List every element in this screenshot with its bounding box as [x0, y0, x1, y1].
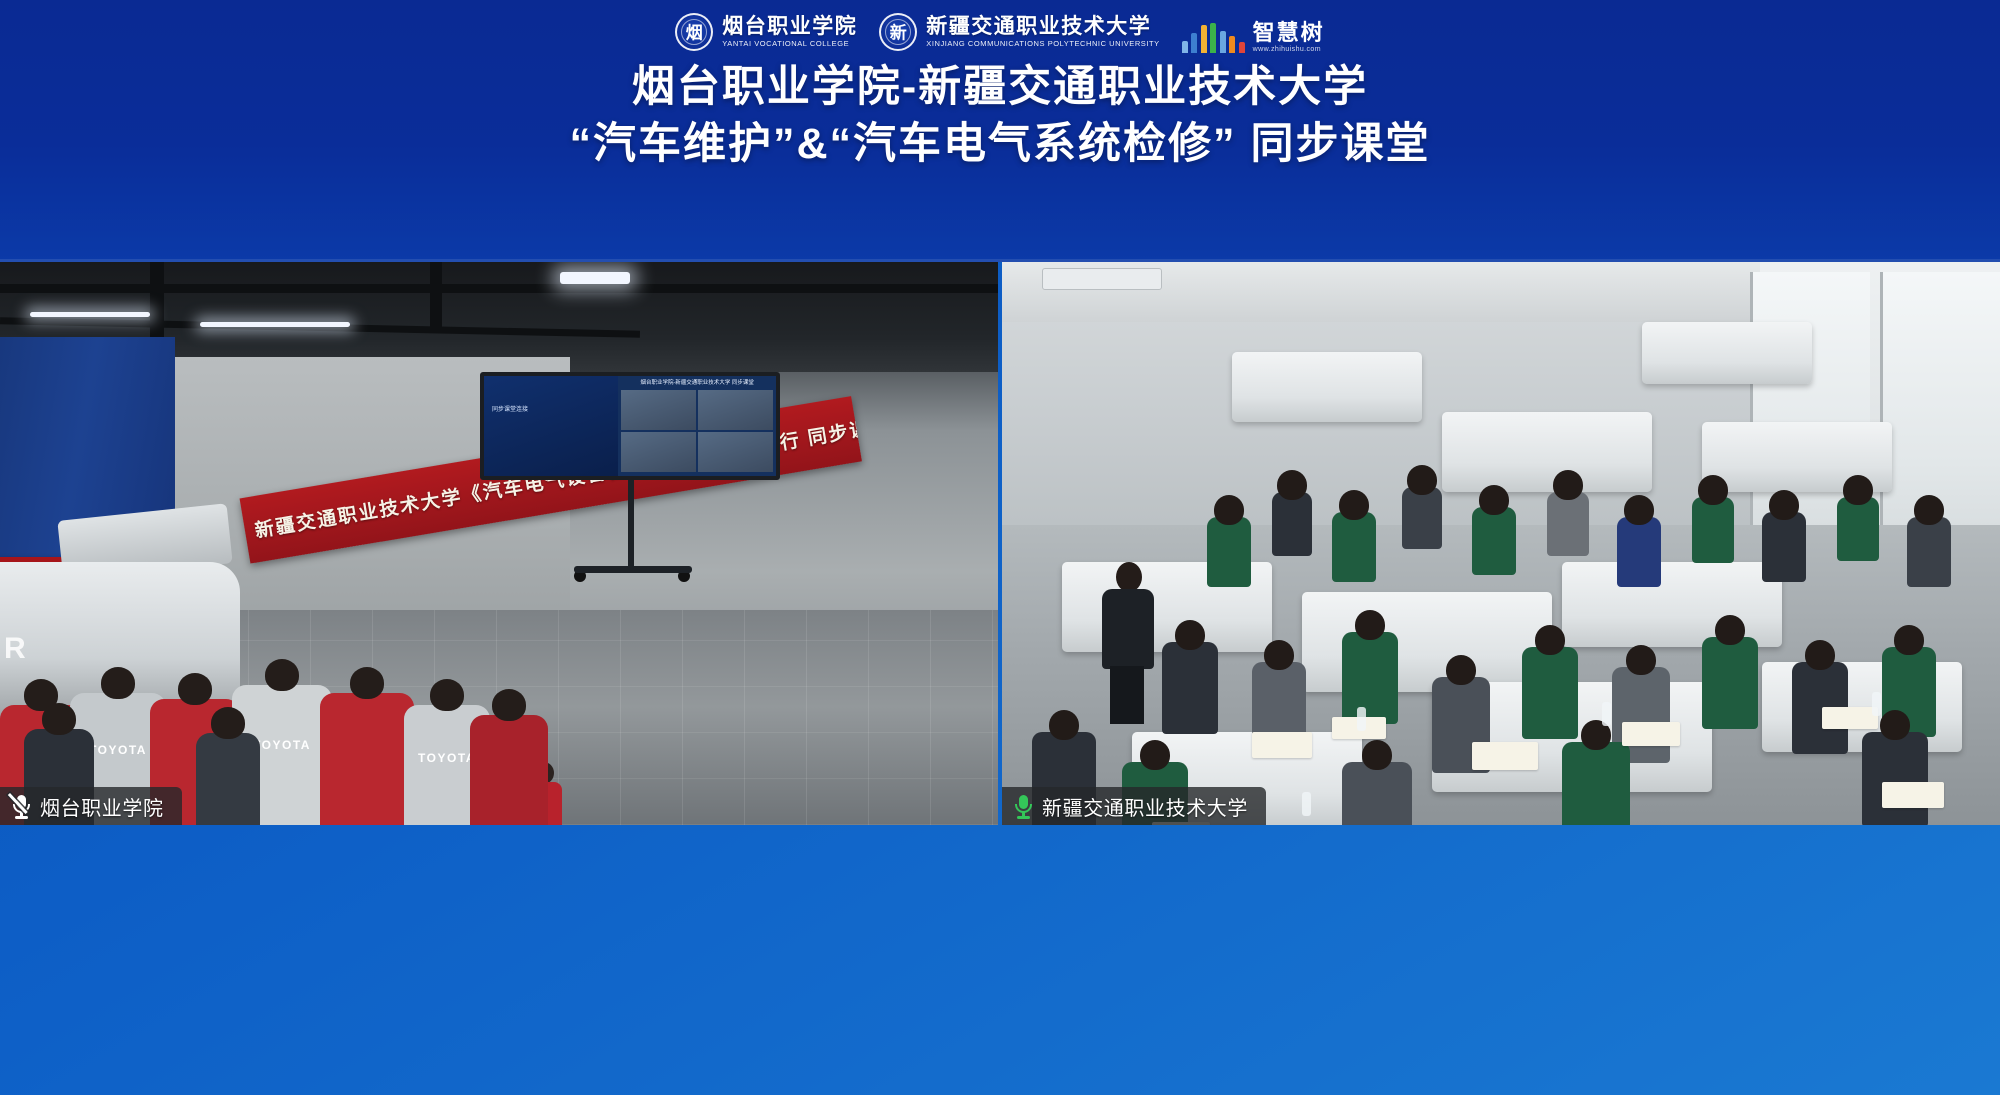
footer-background [0, 825, 2000, 1095]
logo-xinjiang-communications-polytechnic-university: 新 新疆交通职业技术大学 XINJIANG COMMUNICATIONS POL… [879, 8, 1159, 56]
microphone-muted-icon [12, 794, 31, 818]
seated-student [1617, 517, 1661, 587]
zhihuishu-logo-url: www.zhihuishu.com [1253, 46, 1325, 53]
student-head [430, 679, 464, 711]
broadcast-stage: 烟 烟台职业学院 YANTAI VOCATIONAL COLLEGE 新 新疆交… [0, 0, 2000, 1095]
title-line-2: “汽车维护”&“汽车电气系统检修” 同步课堂 [0, 119, 2000, 171]
screen-thumb [698, 390, 773, 430]
student-head [1407, 465, 1437, 495]
student-head [1553, 470, 1583, 500]
seated-student [1472, 507, 1516, 575]
ceiling-light [200, 322, 350, 327]
student-head [1214, 495, 1244, 525]
classroom-desk [1642, 322, 1812, 384]
student-head [1626, 645, 1656, 675]
ceiling-post [430, 262, 442, 332]
seated-student [1402, 487, 1442, 549]
participant-name-left: 烟台职业学院 [40, 792, 164, 821]
logo-zhihuishu: 智慧树 www.zhihuishu.com [1182, 11, 1325, 53]
water-bottle [1302, 792, 1311, 816]
seated-student [1522, 647, 1578, 739]
student-head [265, 659, 299, 691]
header-banner: 烟 烟台职业学院 YANTAI VOCATIONAL COLLEGE 新 新疆交… [0, 0, 2000, 262]
student-figure [470, 715, 548, 825]
student-head [1140, 740, 1170, 770]
presenter-body [1102, 589, 1154, 669]
zhihuishu-bar [1182, 41, 1188, 53]
student-head [350, 667, 384, 699]
student-head [42, 703, 76, 735]
participant-label-left: 烟台职业学院 [0, 787, 182, 825]
zhihuishu-bar [1220, 31, 1226, 53]
seated-student [1207, 517, 1251, 587]
paper-sheet [1882, 782, 1944, 808]
water-bottle [1602, 702, 1611, 726]
paper-sheet [1822, 707, 1878, 729]
yantai-seal-icon: 烟 [675, 13, 713, 51]
student-head [1769, 490, 1799, 520]
xinjiang-seal-icon: 新 [879, 13, 917, 51]
seated-student [1702, 637, 1758, 729]
screen-thumb [698, 432, 773, 472]
presenter-head [1116, 562, 1142, 592]
seated-student [1332, 512, 1376, 582]
ceiling-light [560, 272, 630, 284]
zhihuishu-bar [1201, 25, 1207, 53]
seated-student [1272, 492, 1312, 556]
zhihuishu-logo-text: 智慧树 www.zhihuishu.com [1253, 22, 1325, 53]
uniform-text: TOYOTA [253, 738, 311, 752]
water-bottle [1872, 692, 1881, 716]
water-bottle [1357, 707, 1366, 731]
screen-thumb [621, 390, 696, 430]
uniform-text: TOYOTA [89, 743, 147, 757]
screen-left-half: 同步课堂连接 [484, 376, 618, 476]
seated-student [1837, 497, 1879, 561]
student-head [1277, 470, 1307, 500]
left-scene-workshop: 业 学 院 《汽车维护-油电双轨 职业技术大学 《汽车电气设备检修》 新疆交通职… [0, 262, 998, 825]
classroom-desk [1302, 592, 1552, 692]
air-conditioner [1042, 268, 1162, 290]
seated-student [1342, 762, 1412, 825]
student-head [1175, 620, 1205, 650]
student-head [211, 707, 245, 739]
logo-row: 烟 烟台职业学院 YANTAI VOCATIONAL COLLEGE 新 新疆交… [0, 6, 2000, 58]
classroom-desk [1562, 562, 1782, 647]
ceiling-light [30, 312, 150, 317]
stand-wheel [678, 570, 690, 582]
seated-student [1762, 512, 1806, 582]
seated-student [1562, 742, 1630, 825]
student-head [1805, 640, 1835, 670]
student-head [1914, 495, 1944, 525]
classroom-desk [1232, 352, 1422, 422]
zhihuishu-bar [1210, 23, 1216, 53]
student-head [1715, 615, 1745, 645]
right-scene-classroom [1002, 262, 2000, 825]
screen-header: 烟台职业学院-新疆交通职业技术大学 同步课堂 [618, 378, 776, 386]
screen-video-grid [621, 390, 773, 472]
screen-caption: 同步课堂连接 [492, 406, 528, 415]
stand-wheel [574, 570, 586, 582]
student-figure [196, 733, 260, 825]
student-head [1880, 710, 1910, 740]
student-head [1264, 640, 1294, 670]
participant-name-right: 新疆交通职业技术大学 [1042, 792, 1248, 821]
yantai-logo-en: YANTAI VOCATIONAL COLLEGE [722, 39, 857, 49]
xinjiang-logo-cn: 新疆交通职业技术大学 [926, 16, 1159, 38]
zhihuishu-logo-cn: 智慧树 [1253, 22, 1325, 44]
student-head [492, 689, 526, 721]
student-figure [320, 693, 414, 825]
participant-label-right: 新疆交通职业技术大学 [1002, 787, 1266, 825]
video-pane-right[interactable]: 新疆交通职业技术大学 [1002, 262, 2000, 825]
paper-sheet [1622, 722, 1680, 746]
xinjiang-logo-en: XINJIANG COMMUNICATIONS POLYTECHNIC UNIV… [926, 39, 1159, 49]
logo-yantai-vocational-college: 烟 烟台职业学院 YANTAI VOCATIONAL COLLEGE [675, 8, 857, 56]
student-head [1446, 655, 1476, 685]
student-head [1479, 485, 1509, 515]
student-head [1049, 710, 1079, 740]
microphone-active-icon [1014, 794, 1033, 818]
video-pane-left[interactable]: 业 学 院 《汽车维护-油电双轨 职业技术大学 《汽车电气设备检修》 新疆交通职… [0, 262, 998, 825]
screen-thumb [621, 432, 696, 472]
presenter-figure [1100, 562, 1156, 722]
student-head [1535, 625, 1565, 655]
classroom-desk [1442, 412, 1652, 492]
student-head [1624, 495, 1654, 525]
seated-student [1547, 492, 1589, 556]
xinjiang-seal-glyph: 新 [890, 24, 907, 41]
display-screen: 同步课堂连接 烟台职业学院-新疆交通职业技术大学 同步课堂 [480, 372, 780, 480]
paper-sheet [1252, 732, 1312, 758]
student-head [1339, 490, 1369, 520]
student-head [101, 667, 135, 699]
seated-student [1692, 497, 1734, 563]
yantai-logo-cn: 烟台职业学院 [722, 16, 857, 38]
zhihuishu-bar [1191, 33, 1197, 53]
zhihuishu-bar [1239, 42, 1245, 53]
yantai-seal-glyph: 烟 [686, 24, 703, 41]
uniform-text: TOYOTA [418, 751, 476, 765]
student-head [178, 673, 212, 705]
yantai-logo-text: 烟台职业学院 YANTAI VOCATIONAL COLLEGE [722, 16, 857, 49]
seated-student [1862, 732, 1928, 825]
student-head [1362, 740, 1392, 770]
zhihuishu-bars-icon [1182, 23, 1245, 53]
seated-student [1162, 642, 1218, 734]
seated-student [1342, 632, 1398, 724]
student-head [1894, 625, 1924, 655]
xinjiang-logo-text: 新疆交通职业技术大学 XINJIANG COMMUNICATIONS POLYT… [926, 16, 1159, 49]
zhihuishu-bar [1229, 36, 1235, 53]
student-head [1843, 475, 1873, 505]
presenter-legs [1110, 666, 1144, 724]
page-title: 烟台职业学院-新疆交通职业技术大学 “汽车维护”&“汽车电气系统检修” 同步课堂 [0, 62, 2000, 170]
display-stand [580, 480, 680, 590]
screen-right-half: 烟台职业学院-新疆交通职业技术大学 同步课堂 [618, 376, 776, 476]
title-line-1: 烟台职业学院-新疆交通职业技术大学 [0, 62, 2000, 113]
student-head [1355, 610, 1385, 640]
seated-student [1907, 517, 1951, 587]
classroom-display-unit: 同步课堂连接 烟台职业学院-新疆交通职业技术大学 同步课堂 [480, 372, 780, 490]
student-head [1698, 475, 1728, 505]
video-grid: 业 学 院 《汽车维护-油电双轨 职业技术大学 《汽车电气设备检修》 新疆交通职… [0, 262, 2000, 825]
paper-sheet [1472, 742, 1538, 770]
